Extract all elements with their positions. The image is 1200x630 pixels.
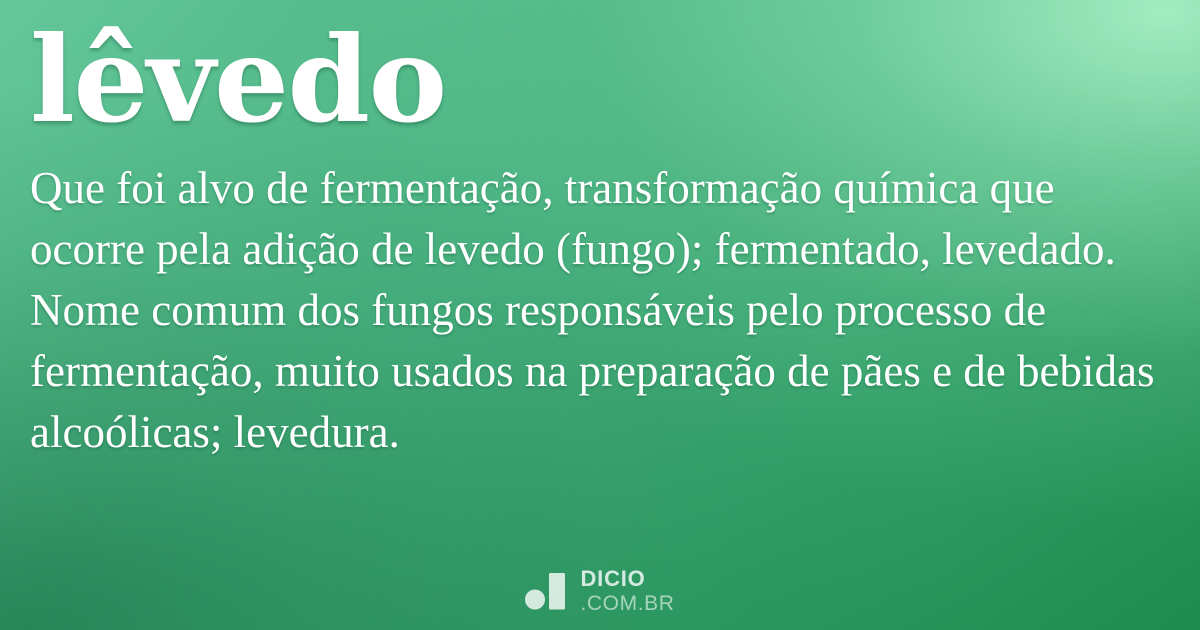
dicio-dot-bar-logo-icon bbox=[525, 571, 567, 611]
brand-name-text: DICIO bbox=[580, 568, 674, 590]
brand-tld-text: .COM.BR bbox=[580, 593, 674, 614]
brand-wordmark: DICIO .COM.BR bbox=[580, 568, 674, 614]
brand-logo[interactable]: DICIO .COM.BR bbox=[0, 568, 1200, 614]
card-content: lêvedo Que foi alvo de fermentação, tran… bbox=[0, 0, 1200, 630]
headword-title: lêvedo bbox=[30, 0, 1170, 152]
definition-card: lêvedo Que foi alvo de fermentação, tran… bbox=[0, 0, 1200, 630]
definition-sense-2: Nome comum dos fungos responsáveis pelo … bbox=[30, 280, 1170, 463]
definition-sense-1: Que foi alvo de fermentação, transformaç… bbox=[30, 158, 1170, 280]
